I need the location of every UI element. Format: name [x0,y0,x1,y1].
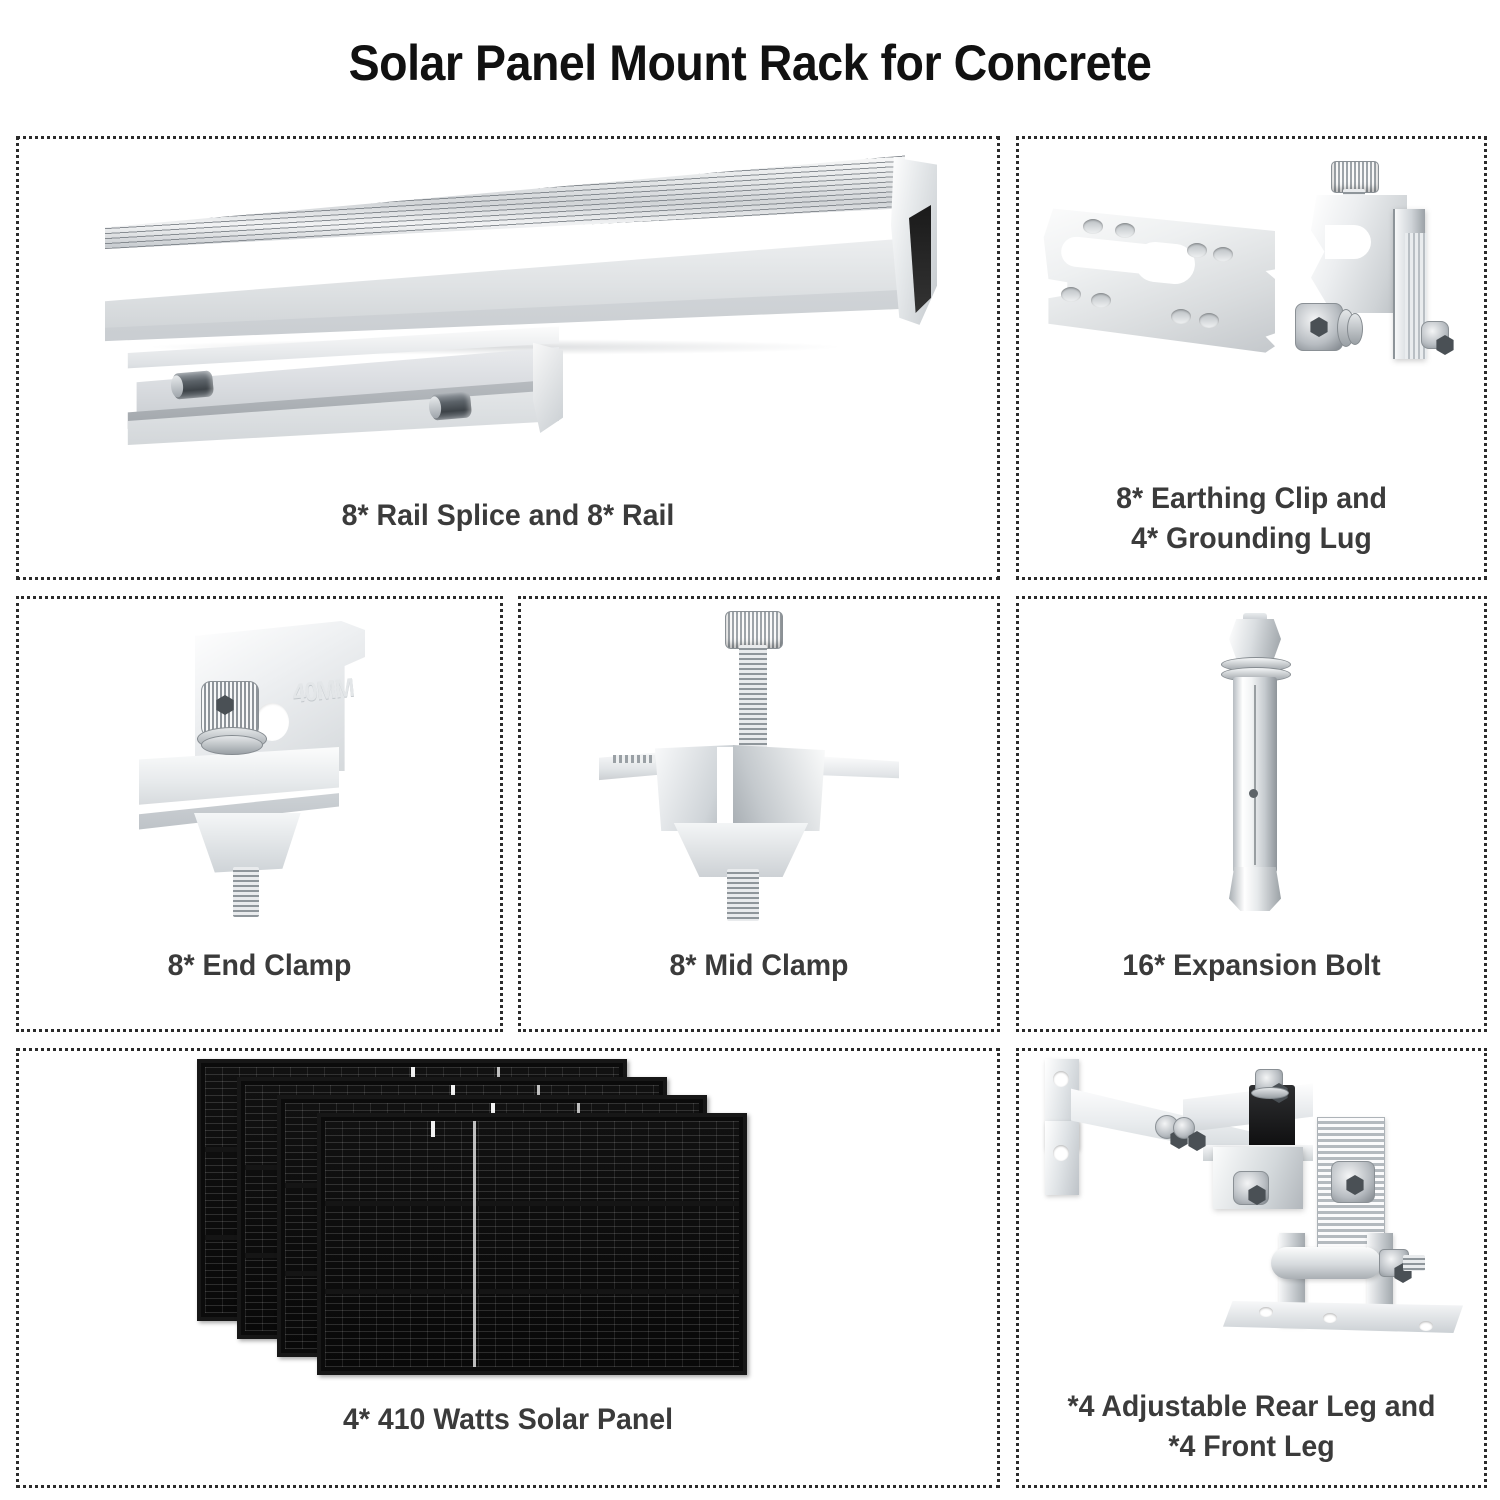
cell-label-earthing: 8* Earthing Clip and 4* Grounding Lug [1031,479,1473,559]
cell-label-earthing-line2: 4* Grounding Lug [1031,519,1473,559]
rail-splice-art [119,325,579,445]
hex-nut-icon [1229,619,1281,659]
cell-label-legs-line2: *4 Front Leg [1031,1427,1473,1467]
cell-label-solar-panel: 4* 410 Watts Solar Panel [43,1401,972,1439]
expansion-bolt-art [1209,613,1301,923]
product-cell-end-clamp: 40MM 8* End Clamp [16,596,503,1032]
expansion-bolt-image [1019,599,1484,929]
end-clamp-art: 40MM [139,621,389,921]
legs-image [1019,1051,1484,1371]
cell-label-legs: *4 Adjustable Rear Leg and *4 Front Leg [1031,1387,1473,1467]
product-cell-earthing: 8* Earthing Clip and 4* Grounding Lug [1016,136,1487,580]
earthing-clip-art [1039,199,1275,359]
solar-panel-stack-art [197,1059,857,1375]
splice-stud-icon [430,391,472,420]
infographic-page: Solar Panel Mount Rack for Concrete [0,0,1500,1500]
cell-label-rail: 8* Rail Splice and 8* Rail [43,497,972,535]
cell-label-end-clamp: 8* End Clamp [31,947,488,985]
product-cell-mid-clamp: 8* Mid Clamp [518,596,1000,1032]
end-clamp-size-marking: 40MM [291,672,355,709]
rail-profile-art [105,153,925,343]
earthing-image [1019,139,1484,469]
end-clamp-image: 40MM [19,599,500,929]
page-title: Solar Panel Mount Rack for Concrete [53,34,1448,92]
cell-label-earthing-line1: 8* Earthing Clip and [1031,479,1473,519]
splice-stud-icon [172,370,214,399]
solar-panel-image [19,1051,997,1381]
solar-panel-item [317,1113,747,1375]
knurled-screw-icon [725,611,783,649]
cell-label-mid-clamp: 8* Mid Clamp [533,947,985,985]
rail-image [19,139,997,489]
product-cell-solar-panel: 4* 410 Watts Solar Panel [16,1048,1000,1488]
product-cell-legs: *4 Adjustable Rear Leg and *4 Front Leg [1016,1048,1487,1488]
product-cell-expansion-bolt: 16* Expansion Bolt [1016,596,1487,1032]
cell-label-expansion-bolt: 16* Expansion Bolt [1031,947,1473,985]
grounding-lug-art [1289,161,1479,391]
cell-label-legs-line1: *4 Adjustable Rear Leg and [1031,1387,1473,1427]
mid-clamp-art [599,611,899,921]
product-cell-rail: 8* Rail Splice and 8* Rail [16,136,1000,580]
legs-art [1027,1051,1484,1367]
mid-clamp-image [521,599,997,929]
hex-bolt-icon [1295,303,1343,351]
